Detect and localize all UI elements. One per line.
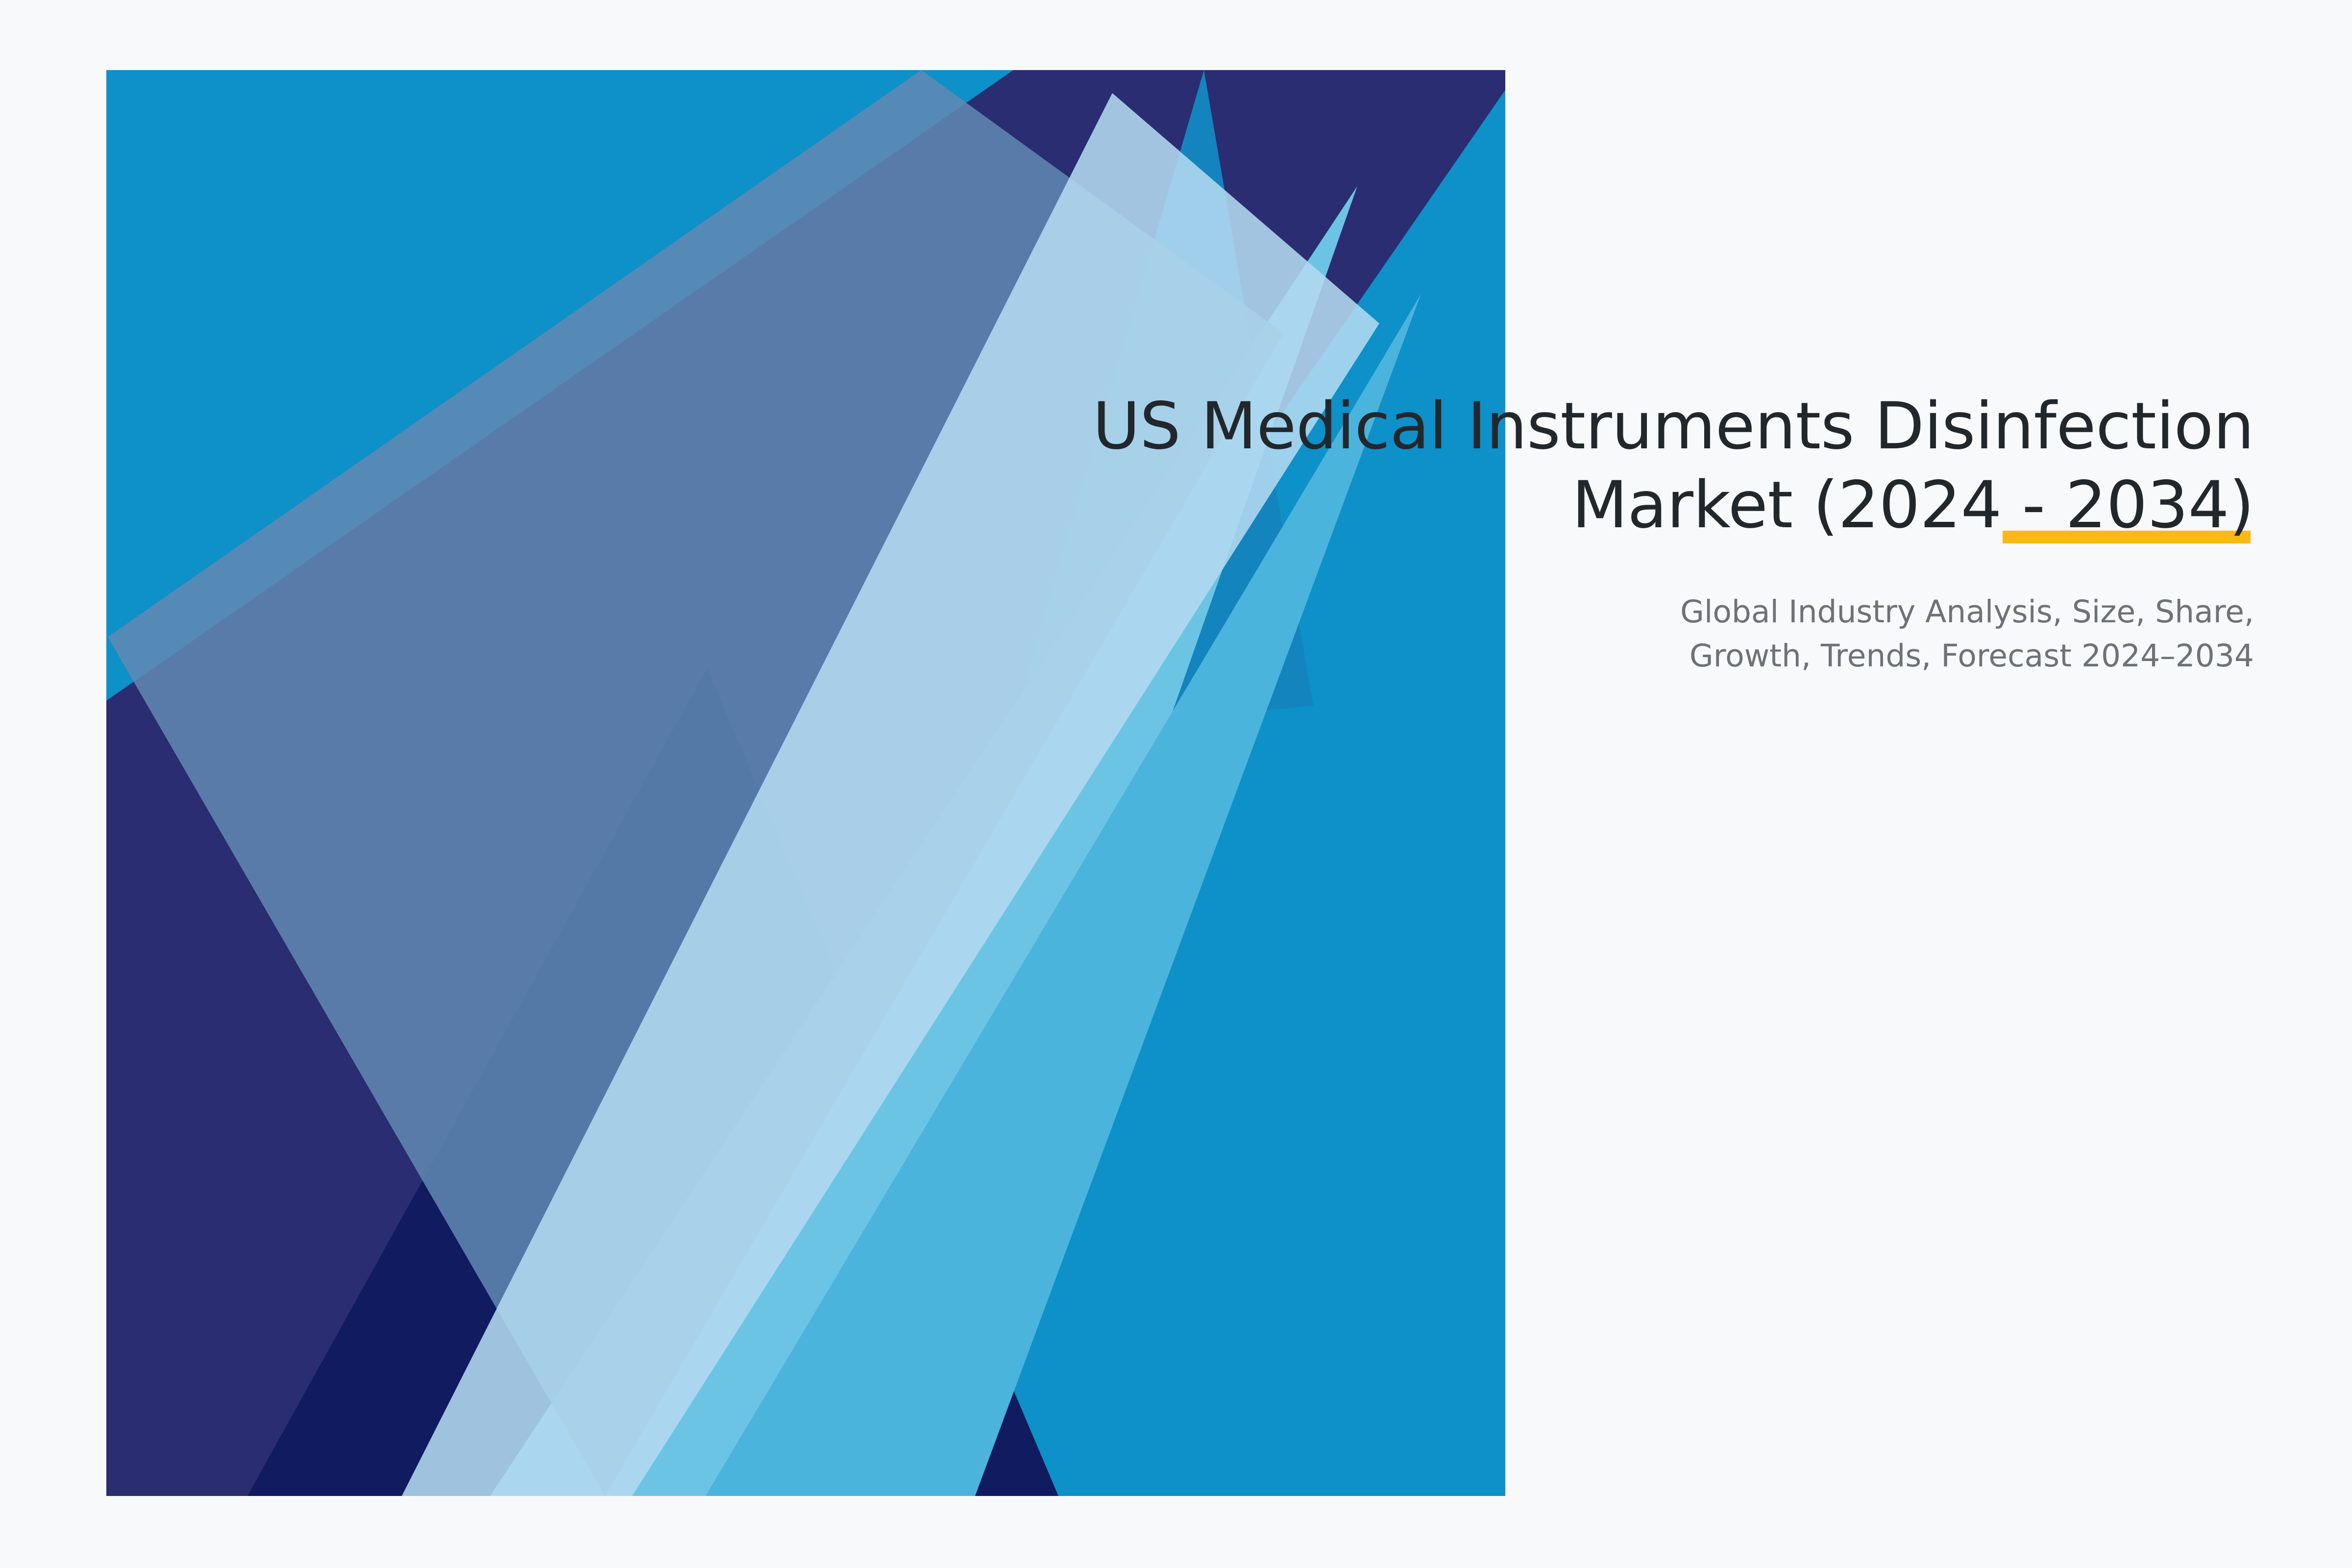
abstract-geometric-artwork xyxy=(0,0,2352,1568)
page-title: US Medical Instruments DisinfectionMarke… xyxy=(833,387,2254,545)
page-title-line-2: Market (2024 - 2034) xyxy=(1572,467,2254,543)
page-subtitle: Global Industry Analysis, Size, Share,Gr… xyxy=(833,545,2254,678)
cover-text-block: US Medical Instruments DisinfectionMarke… xyxy=(833,387,2254,678)
cover-page: US Medical Instruments DisinfectionMarke… xyxy=(0,0,2352,1568)
page-title-line-1: US Medical Instruments Disinfection xyxy=(1093,389,2254,464)
page-subtitle-line-1: Global Industry Analysis, Size, Share, xyxy=(1680,594,2254,630)
page-subtitle-line-2: Growth, Trends, Forecast 2024–2034 xyxy=(1690,638,2254,674)
